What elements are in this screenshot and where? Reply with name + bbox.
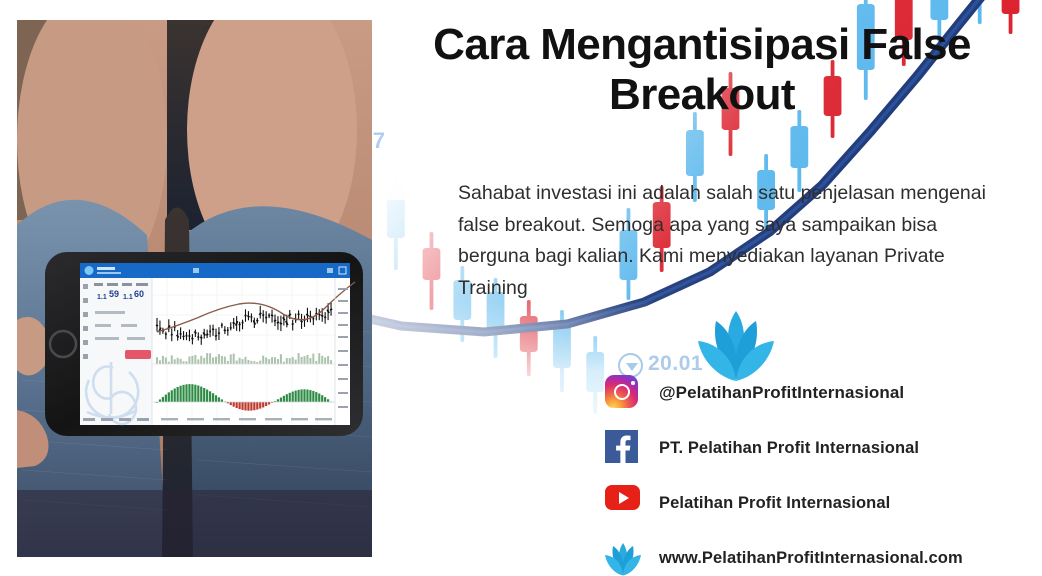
social-links-list: @PelatihanProfitInternasional PT. Pelati… bbox=[605, 367, 1035, 576]
youtube-channel-label: Pelatihan Profit Internasional bbox=[659, 494, 890, 513]
facebook-page-label: PT. Pelatihan Profit Internasional bbox=[659, 439, 919, 458]
page-title: Cara Mengantisipasi False Breakout bbox=[372, 20, 1032, 119]
body-paragraph: Sahabat investasi ini adalah salah satu … bbox=[458, 178, 986, 304]
youtube-icon[interactable] bbox=[605, 485, 641, 521]
facebook-icon[interactable] bbox=[605, 430, 641, 466]
headline-line-2: Breakout bbox=[372, 70, 1032, 120]
person-holding-phone-photo: 1.1 59 1.1 60 bbox=[17, 20, 372, 557]
website-url-label: www.PelatihanProfitInternasional.com bbox=[659, 549, 963, 568]
social-row-facebook[interactable]: PT. Pelatihan Profit Internasional bbox=[605, 422, 1035, 474]
svg-text:60: 60 bbox=[134, 289, 144, 299]
poster-canvas: 07 20.01 bbox=[0, 0, 1042, 576]
social-row-instagram[interactable]: @PelatihanProfitInternasional bbox=[605, 367, 1035, 419]
svg-text:1.1: 1.1 bbox=[97, 294, 107, 301]
headline-line-1: Cara Mengantisipasi False bbox=[372, 20, 1032, 70]
instagram-handle-label: @PelatihanProfitInternasional bbox=[659, 383, 904, 403]
svg-text:59: 59 bbox=[109, 289, 119, 299]
social-row-website[interactable]: www.PelatihanProfitInternasional.com bbox=[605, 532, 1035, 576]
instagram-icon[interactable] bbox=[605, 375, 641, 411]
lotus-icon[interactable] bbox=[605, 540, 641, 576]
social-row-youtube[interactable]: Pelatihan Profit Internasional bbox=[605, 477, 1035, 529]
svg-text:1.1: 1.1 bbox=[123, 294, 133, 301]
